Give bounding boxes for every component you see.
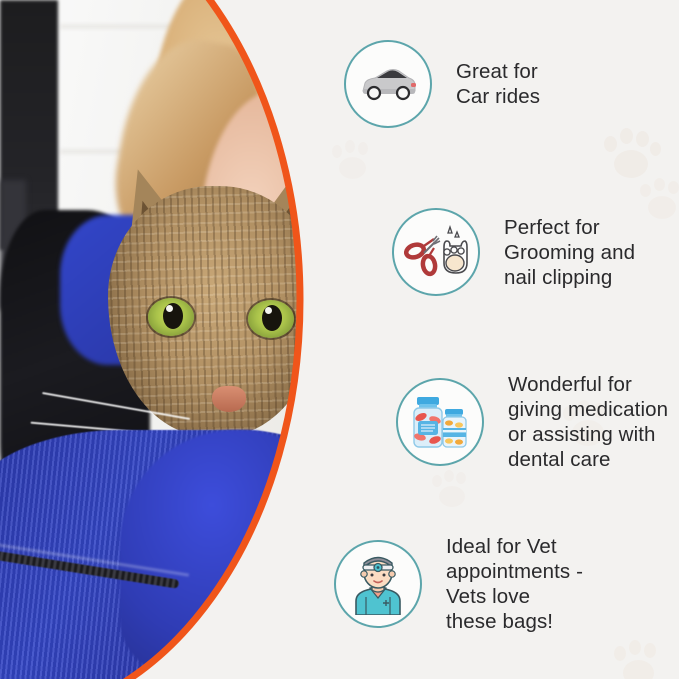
paw-watermark	[330, 140, 376, 186]
feature-label: Ideal for Vet appointments - Vets love t…	[446, 534, 583, 634]
feature-row-medication[interactable]: Wonderful for giving medication or assis…	[396, 372, 668, 472]
paw-watermark	[612, 640, 666, 679]
nail-clippers-paw-icon	[392, 208, 480, 296]
veterinarian-icon	[334, 540, 422, 628]
paw-watermark	[430, 470, 474, 514]
infographic-root: Great for Car rides Perfect	[0, 0, 679, 679]
feature-row-grooming[interactable]: Perfect for Grooming and nail clipping	[392, 208, 635, 296]
feature-label: Perfect for Grooming and nail clipping	[504, 215, 635, 290]
medicine-bottles-icon	[396, 378, 484, 466]
car-icon	[344, 40, 432, 128]
feature-row-car-rides[interactable]: Great for Car rides	[344, 40, 540, 128]
feature-row-vet[interactable]: Ideal for Vet appointments - Vets love t…	[334, 534, 583, 634]
feature-label: Great for Car rides	[456, 59, 540, 109]
feature-label: Wonderful for giving medication or assis…	[508, 372, 668, 472]
paw-watermark	[638, 178, 679, 226]
cat-nose	[212, 386, 246, 412]
